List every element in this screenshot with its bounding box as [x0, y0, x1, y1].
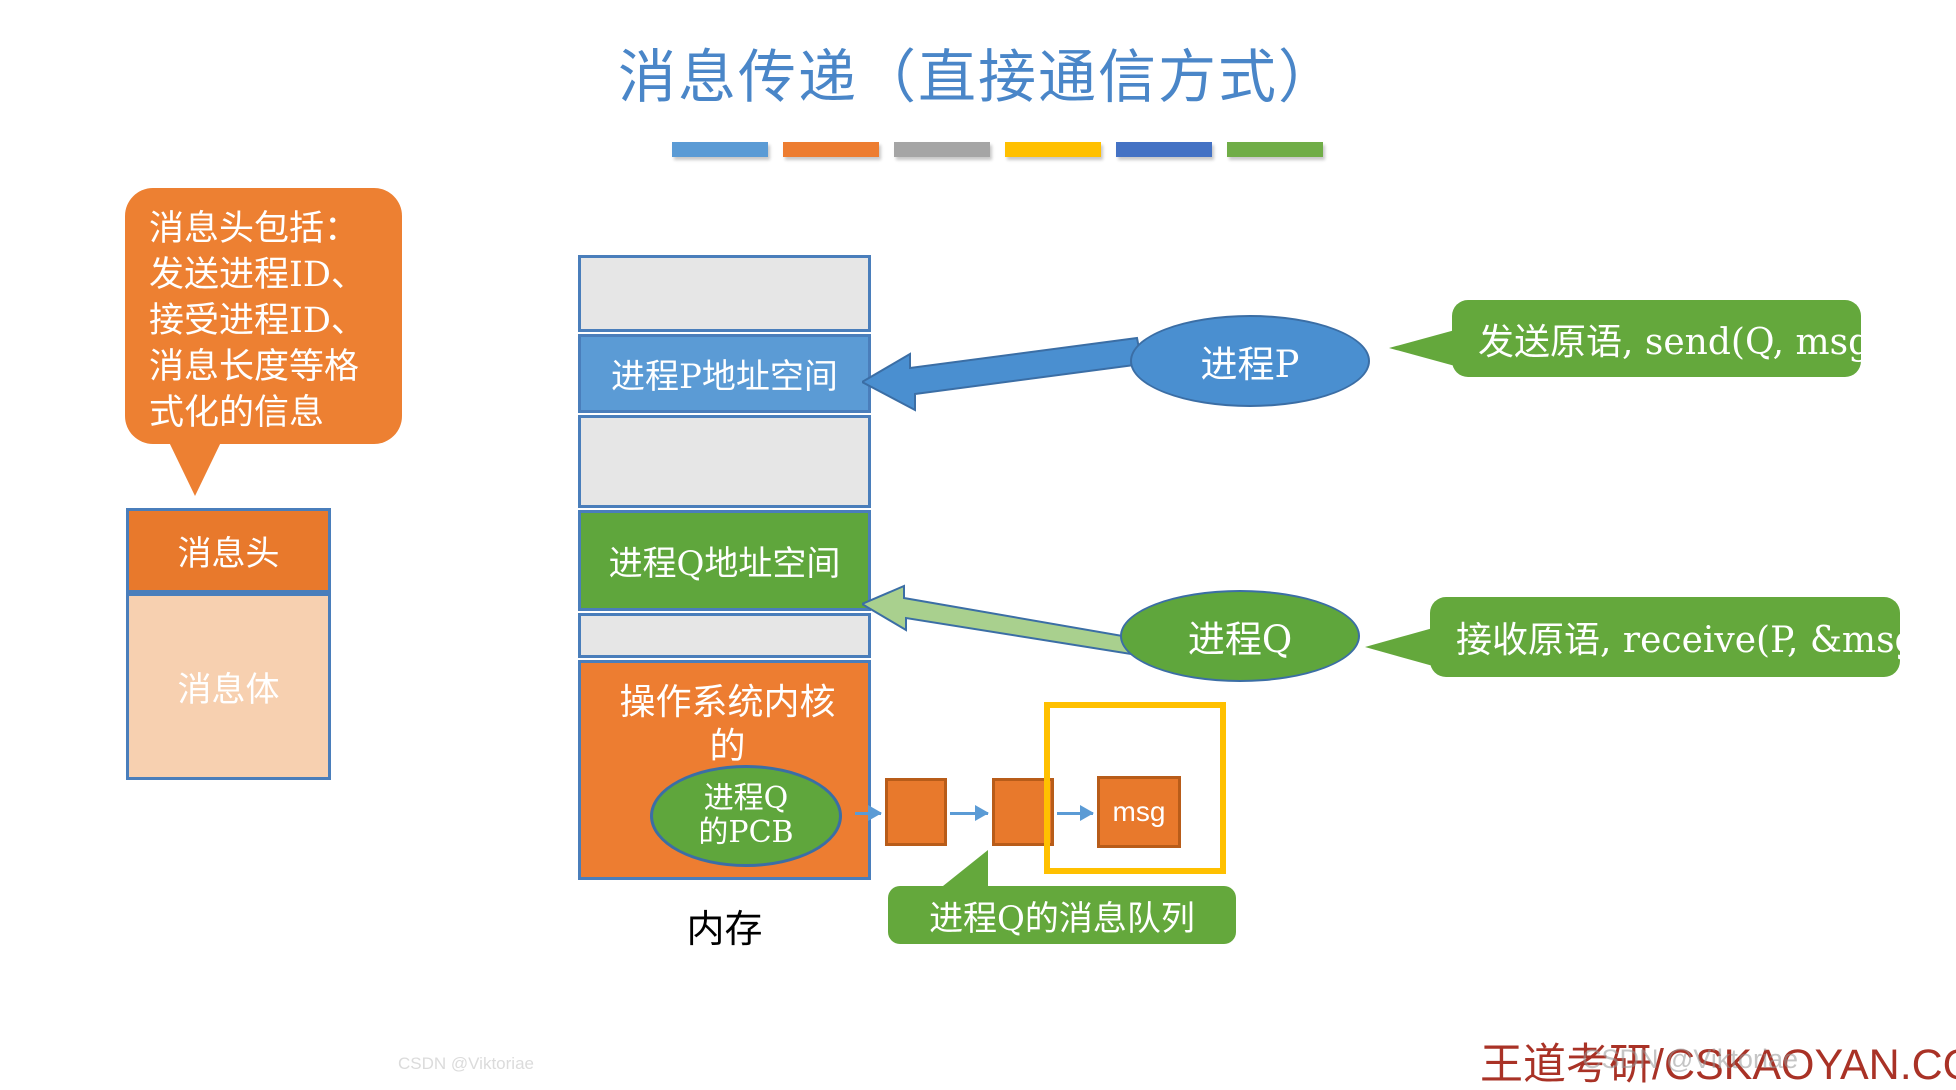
callout-line-5: 式化的信息 [149, 390, 382, 436]
receive-primitive-callout: 接收原语, receive(P, &msg) [1430, 597, 1900, 677]
accent-bar-gray [894, 142, 990, 157]
pcb-line-1: 进程Q [704, 782, 789, 816]
process-q-pcb-ellipse: 进程Q 的PCB [650, 765, 842, 867]
message-body-box: 消息体 [126, 593, 331, 780]
process-q-ellipse: 进程Q [1120, 590, 1360, 682]
queue-arrow-1 [855, 812, 881, 815]
accent-bar-green [1227, 142, 1323, 157]
queue-callout: 进程Q的消息队列 [888, 886, 1236, 944]
callout-line-1: 消息头包括： [149, 206, 382, 252]
os-kernel-text: 操作系统内核 的 [581, 681, 874, 769]
receive-block-arrow [862, 572, 1142, 682]
process-p-ellipse: 进程P [1130, 315, 1370, 407]
send-primitive-callout: 发送原语, send(Q, msg) [1452, 300, 1861, 377]
page-title: 消息传递（直接通信方式） [0, 30, 1956, 114]
memory-block-free-1 [578, 255, 871, 332]
memory-block-free-3 [578, 613, 871, 658]
callout-tail [168, 440, 222, 496]
os-kernel-line-1: 操作系统内核 [581, 681, 874, 725]
accent-bar-dark-blue [1116, 142, 1212, 157]
memory-caption: 内存 [578, 898, 871, 953]
message-header-callout: 消息头包括： 发送进程ID、 接受进程ID、 消息长度等格 式化的信息 [125, 188, 402, 444]
message-head-box: 消息头 [126, 508, 331, 593]
accent-bar-orange [783, 142, 879, 157]
queue-callout-tail [938, 850, 988, 890]
callout-line-4: 消息长度等格 [149, 344, 382, 390]
queue-node-1 [885, 778, 947, 846]
receive-callout-tail [1365, 628, 1433, 666]
accent-bar-blue [672, 142, 768, 157]
queue-highlight-rect [1044, 702, 1226, 874]
memory-block-process-p: 进程P地址空间 [578, 334, 871, 413]
send-callout-tail [1389, 330, 1455, 366]
callout-line-3: 接受进程ID、 [149, 298, 382, 344]
memory-block-free-2 [578, 415, 871, 508]
title-accent-bars [672, 142, 1323, 157]
callout-line-2: 发送进程ID、 [149, 252, 382, 298]
csdn-watermark: CSDN @Viktoriae [1582, 1044, 1798, 1075]
memory-block-process-q: 进程Q地址空间 [578, 510, 871, 611]
accent-bar-yellow [1005, 142, 1101, 157]
send-block-arrow [862, 320, 1142, 430]
queue-arrow-2 [950, 812, 988, 815]
slide-canvas: 消息传递（直接通信方式） 消息头包括： 发送进程ID、 接受进程ID、 消息长度… [0, 0, 1956, 1090]
pcb-line-2: 的PCB [698, 816, 793, 850]
os-kernel-line-2: 的 [581, 725, 874, 769]
csdn-watermark-small: CSDN @Viktoriae [398, 1054, 534, 1074]
